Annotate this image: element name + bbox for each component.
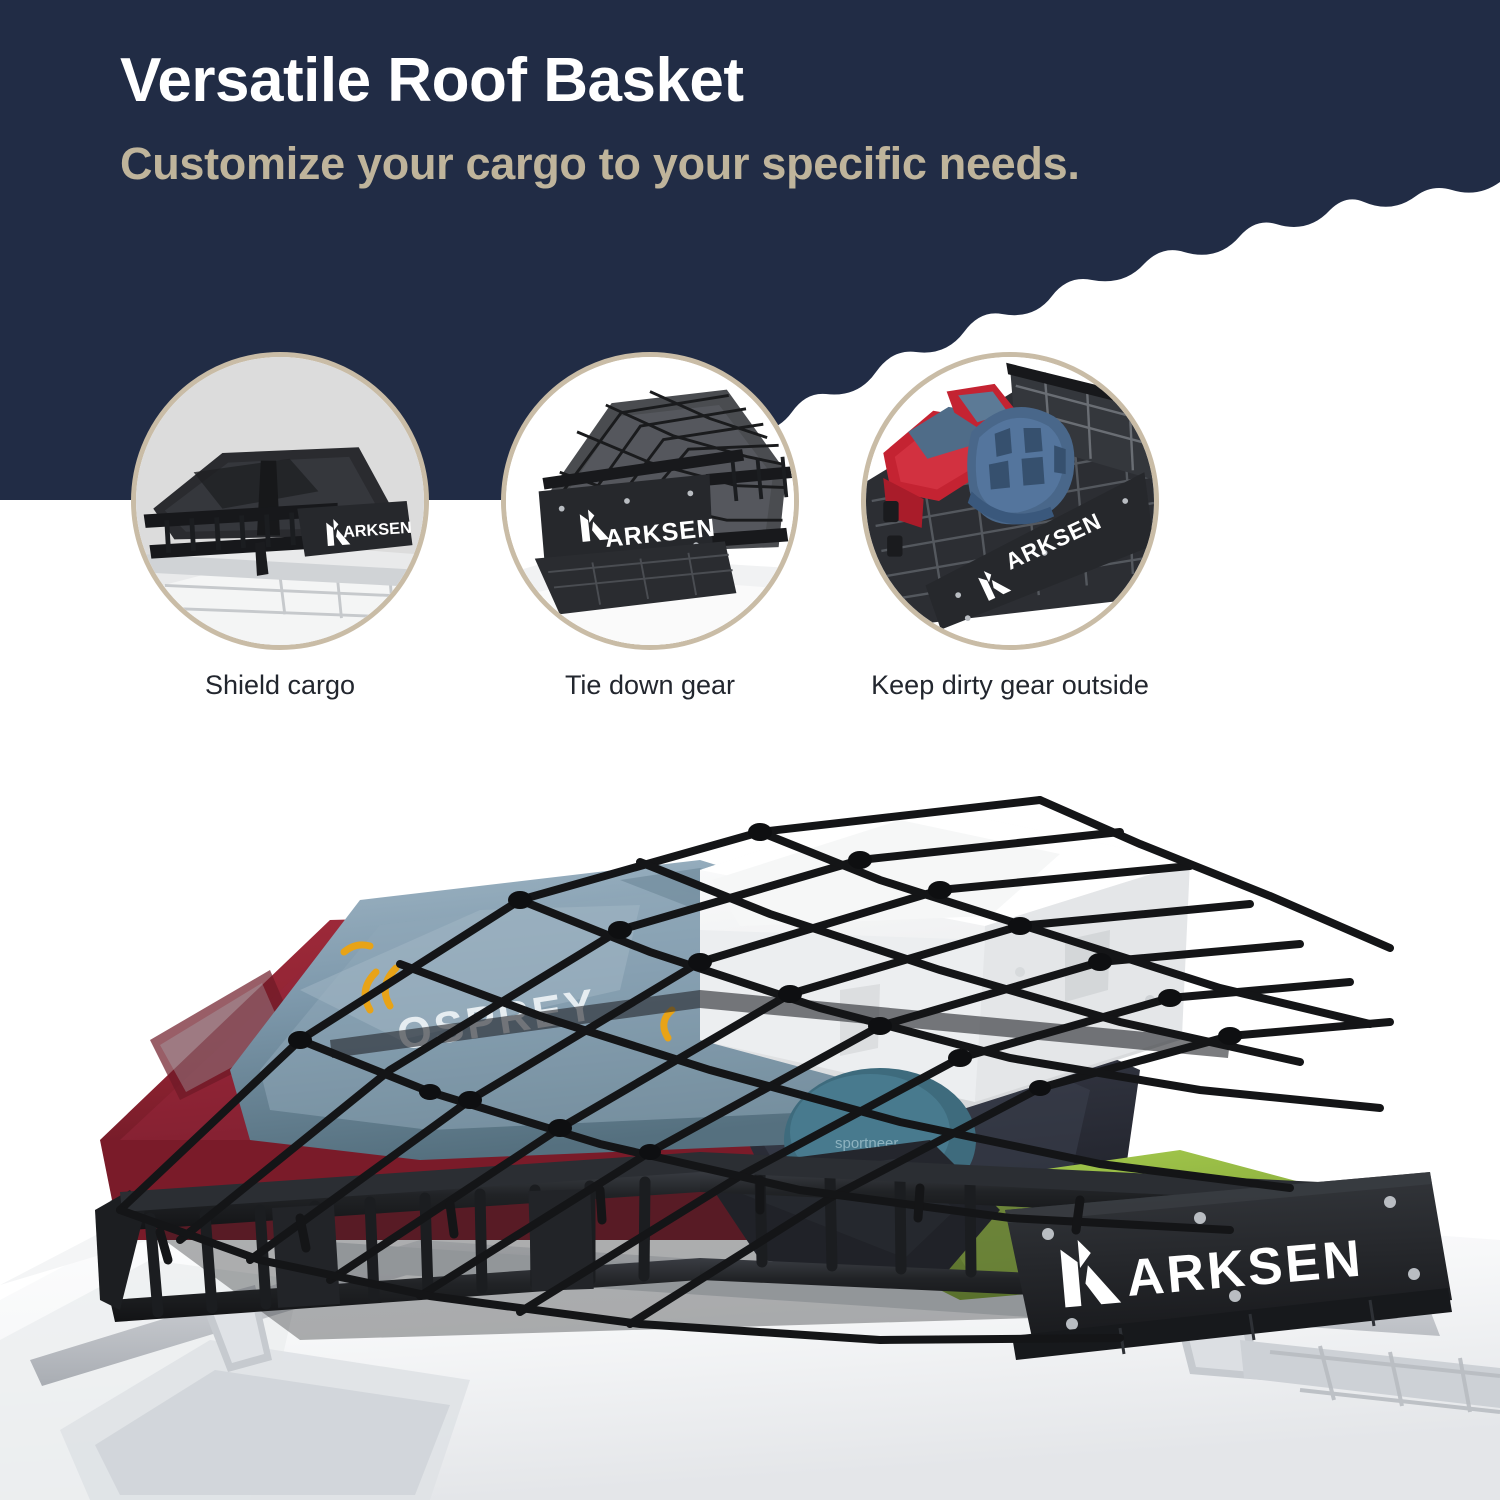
feature-caption: Tie down gear: [500, 668, 800, 703]
feature-thumbnail-keep-dirty-gear: ARKSEN: [861, 352, 1159, 650]
page-title: Versatile Roof Basket: [120, 48, 1320, 115]
feature-caption: Shield cargo: [130, 668, 430, 703]
feature-thumbnail-tie-down-gear: ARKSEN: [501, 352, 799, 650]
header-text-block: Versatile Roof Basket Customize your car…: [120, 48, 1320, 192]
page-subtitle: Customize your cargo to your specific ne…: [120, 137, 1270, 192]
feature-item-keep-dirty-gear[interactable]: ARKSEN Keep dirty gear outside: [850, 352, 1170, 703]
feature-item-shield-cargo[interactable]: ARKSEN Shield cargo: [120, 352, 440, 703]
feature-caption: Keep dirty gear outside: [860, 668, 1160, 703]
feature-thumbnail-row: ARKSEN Shield cargo: [0, 352, 1500, 752]
feature-item-tie-down-gear[interactable]: ARKSEN Tie down gear: [490, 352, 810, 703]
feature-thumbnail-shield-cargo: ARKSEN: [131, 352, 429, 650]
hero-product-image: OSPREY Transporter sport: [0, 740, 1500, 1500]
